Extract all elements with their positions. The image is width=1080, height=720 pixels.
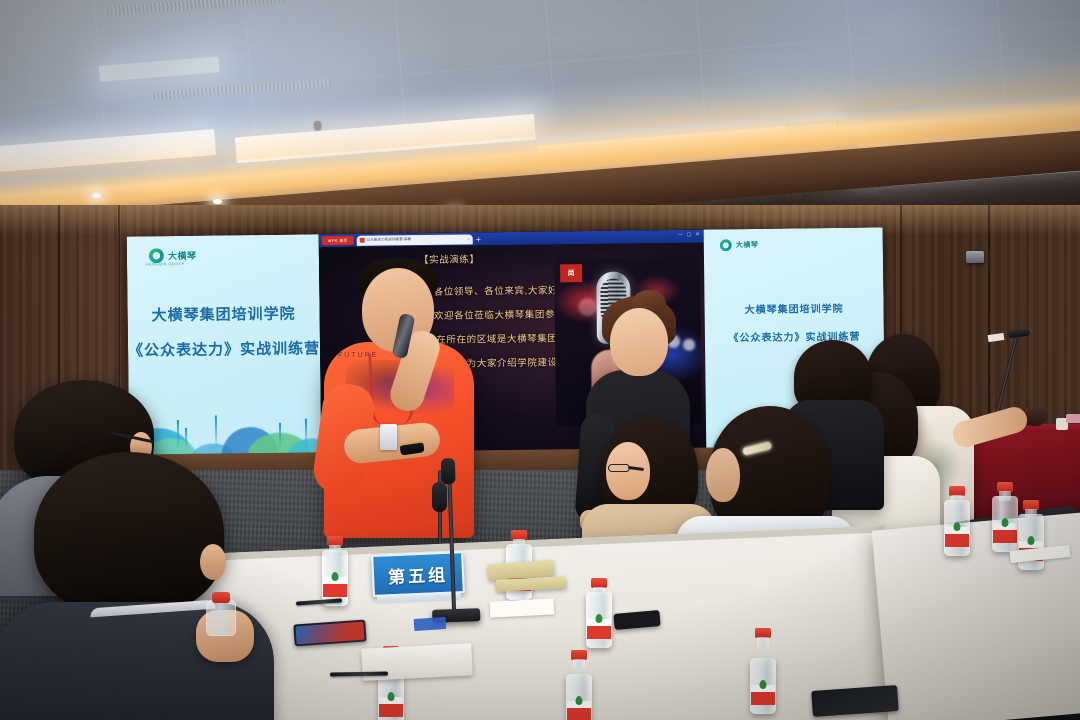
held-water-bottle xyxy=(206,600,236,636)
foreground-man-polo xyxy=(28,452,268,720)
leaf-icon xyxy=(388,692,395,701)
leaf-icon xyxy=(596,614,603,623)
wall-top-glow xyxy=(0,205,1080,235)
leaf-icon xyxy=(1002,518,1009,527)
slide-title-line1: 大横琴集团培训学院 xyxy=(128,302,320,325)
conference-table-right xyxy=(872,510,1080,720)
window-controls[interactable]: — ▢ ✕ xyxy=(678,232,700,238)
id-badge xyxy=(380,424,397,450)
bottle-body xyxy=(566,674,592,720)
ceiling-downlight xyxy=(213,199,222,204)
leaf-icon xyxy=(760,680,767,689)
skyline-spire xyxy=(305,418,307,448)
paper-stack xyxy=(1066,414,1080,423)
paper-sheet xyxy=(490,598,555,617)
speaker-floor-mic-head xyxy=(432,482,447,512)
right-slide-title-line1: 大横琴集团培训学院 xyxy=(705,299,884,316)
wps-brand-chip[interactable]: WPS 演示 xyxy=(322,236,354,245)
hair xyxy=(34,452,224,614)
skyline-spire xyxy=(215,416,217,450)
sprinkler-head xyxy=(314,121,322,131)
leaf-icon xyxy=(332,572,339,581)
slide-title-line2: 《公众表达力》实战训练营 xyxy=(128,337,320,360)
swirl-icon xyxy=(149,248,164,263)
water-bottle[interactable] xyxy=(944,486,970,556)
phone-screen[interactable] xyxy=(295,622,364,645)
speaker-man: FUTURE xyxy=(324,256,484,556)
tent-card-text: 第五组 xyxy=(387,560,448,588)
hengqin-logo-right: 大横琴 xyxy=(720,239,759,251)
water-bottle[interactable] xyxy=(586,578,612,648)
leaf-icon xyxy=(576,696,583,705)
water-bottle[interactable] xyxy=(322,536,348,606)
microphone-capsule xyxy=(441,458,456,484)
bottle-body xyxy=(586,592,612,648)
minimize-icon[interactable]: — xyxy=(678,232,683,238)
close-window-icon[interactable]: ✕ xyxy=(695,232,699,238)
bottle-neck xyxy=(757,637,769,647)
swirl-icon xyxy=(720,239,732,251)
skyline-spire xyxy=(279,423,281,449)
close-icon[interactable]: × xyxy=(467,236,469,241)
water-bottle[interactable] xyxy=(566,650,598,720)
eyeglasses xyxy=(608,464,630,472)
browser-tab[interactable]: 公众表达力实战训练营-讲稿 × xyxy=(357,234,473,245)
hengqin-logo: 大横琴 xyxy=(149,248,197,264)
face xyxy=(706,448,740,502)
bottle-body xyxy=(992,496,1018,552)
ceiling-downlight xyxy=(92,193,101,198)
leaf-icon xyxy=(954,522,961,531)
water-bottle[interactable] xyxy=(750,628,784,714)
bottle-body xyxy=(750,658,776,714)
leaf-icon xyxy=(1028,536,1035,545)
face xyxy=(610,308,668,376)
ear xyxy=(200,544,226,580)
logo-text: 大横琴 xyxy=(168,249,197,262)
held-bottle-cap xyxy=(212,592,230,603)
media-badge: 尚 xyxy=(560,264,582,282)
tab-title: 公众表达力实战训练营-讲稿 xyxy=(367,237,411,243)
logo-text-right: 大横琴 xyxy=(736,240,759,250)
maximize-icon[interactable]: ▢ xyxy=(687,232,692,238)
water-bottle[interactable] xyxy=(992,482,1018,552)
new-tab-button[interactable]: + xyxy=(476,235,481,243)
bottle-body xyxy=(944,500,970,556)
bottle-body xyxy=(322,550,348,606)
logo-subtext: HENGQIN GROUP xyxy=(146,262,185,266)
photo-scene: 大横琴 HENGQIN GROUP 大横琴集团培训学院 《公众表达力》实战训练营 xyxy=(0,0,1080,720)
tab-favicon-icon xyxy=(360,238,365,243)
blue-note-card xyxy=(414,617,447,631)
wall-sensor-device xyxy=(966,251,984,263)
bottle-neck xyxy=(573,659,585,669)
